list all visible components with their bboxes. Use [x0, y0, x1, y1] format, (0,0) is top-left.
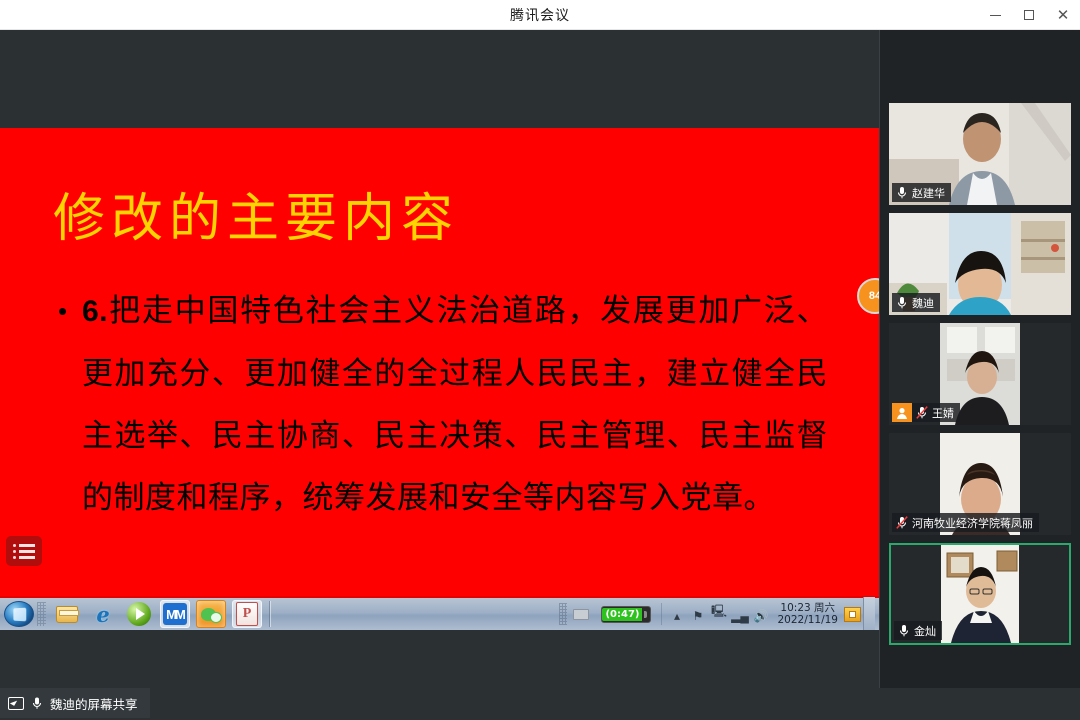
participant-badges: 金灿	[894, 621, 942, 640]
status-bar: 魏迪的屏幕共享	[0, 688, 1080, 720]
microphone-muted-icon	[916, 406, 928, 419]
participant-tile[interactable]: 王婧	[889, 323, 1071, 425]
participant-tile[interactable]: 魏迪	[889, 213, 1071, 315]
minimize-icon	[990, 15, 1001, 16]
signal-icon[interactable]: ▂▄	[731, 606, 748, 623]
presentation-slide[interactable]: 修改的主要内容 • 6.把走中国特色社会主义法治道路，发展更加广泛、更加充分、更…	[0, 128, 879, 596]
microphone-icon	[896, 296, 908, 309]
participant-name-chip: 王婧	[912, 403, 960, 422]
timer-indicator[interactable]: (0:47)	[601, 606, 651, 623]
microphone-icon	[898, 624, 910, 637]
participant-name-chip: 河南牧业经济学院蒋凤丽	[892, 513, 1039, 532]
microphone-muted-icon	[896, 516, 908, 529]
tray-separator	[661, 603, 662, 625]
participant-name: 河南牧业经济学院蒋凤丽	[912, 515, 1033, 531]
maximize-button[interactable]	[1012, 0, 1046, 30]
participant-name-chip: 赵建华	[892, 183, 951, 202]
participant-name-chip: 金灿	[894, 621, 942, 640]
participant-tile-active[interactable]: 金灿	[889, 543, 1071, 645]
close-button[interactable]: ✕	[1046, 0, 1080, 30]
blue-app-icon[interactable]: MM	[160, 600, 190, 628]
slide-item-number: 6.	[82, 295, 108, 328]
floating-count-badge[interactable]: 84	[857, 278, 879, 314]
participant-panel: 赵建华	[879, 30, 1080, 688]
tray-extra-icon[interactable]	[844, 607, 861, 622]
screen-share-indicator[interactable]: 魏迪的屏幕共享	[0, 688, 150, 718]
explorer-icon[interactable]	[52, 600, 82, 628]
flag-icon[interactable]: ⚑	[689, 606, 706, 623]
network-icon[interactable]: 🖳	[710, 606, 727, 623]
microphone-icon	[31, 696, 43, 710]
screen-share-label: 魏迪的屏幕共享	[50, 694, 138, 713]
slide-body-sentence: 把走中国特色社会主义法治道路，发展更加广泛、更加充分、更加健全的全过程人民民主，…	[82, 293, 828, 516]
windows-taskbar[interactable]: e MM P (0:47) ▴ ⚑ 🖳 ▂▄ 🔊	[0, 596, 879, 630]
system-tray[interactable]: (0:47) ▴ ⚑ 🖳 ▂▄ 🔊 10:23 周六 2022/11/19	[559, 597, 879, 631]
chevron-up-icon[interactable]: ▴	[668, 606, 685, 623]
wechat-icon[interactable]	[196, 600, 226, 628]
bullet-icon: •	[58, 280, 82, 342]
taskbar-grip	[37, 602, 46, 626]
clock-time: 10:23 周六	[777, 602, 838, 614]
powerpoint-icon[interactable]: P	[232, 600, 262, 628]
presenter-menu-button[interactable]	[6, 536, 42, 566]
title-bar: 腾讯会议 ✕	[0, 0, 1080, 30]
taskbar-divider	[269, 601, 271, 627]
participant-tile[interactable]: 河南牧业经济学院蒋凤丽	[889, 433, 1071, 535]
participant-name: 魏迪	[912, 295, 934, 311]
participant-badges: 王婧	[892, 403, 960, 422]
participant-name: 王婧	[932, 405, 954, 421]
shared-screen-letterbox-bottom	[0, 630, 879, 688]
minimize-button[interactable]	[978, 0, 1012, 30]
slide-body-text: 6.把走中国特色社会主义法治道路，发展更加广泛、更加充分、更加健全的全过程人民民…	[82, 280, 828, 529]
participant-name-chip: 魏迪	[892, 293, 940, 312]
show-desktop-button[interactable]	[863, 597, 875, 631]
taskbar-clock[interactable]: 10:23 周六 2022/11/19	[777, 602, 838, 626]
internet-explorer-icon[interactable]: e	[88, 600, 118, 628]
slide-body: • 6.把走中国特色社会主义法治道路，发展更加广泛、更加充分、更加健全的全过程人…	[58, 280, 828, 529]
shared-screen-area[interactable]: 修改的主要内容 • 6.把走中国特色社会主义法治道路，发展更加广泛、更加充分、更…	[0, 30, 879, 688]
participant-badges: 魏迪	[892, 293, 940, 312]
clock-date: 2022/11/19	[777, 614, 838, 626]
meeting-window: 腾讯会议 ✕ 修改的主要内容 • 6.把走中国特色社会主义法治道路，发展更加广泛…	[0, 0, 1080, 720]
close-icon: ✕	[1057, 8, 1070, 23]
participant-tile[interactable]: 赵建华	[889, 103, 1071, 205]
windows-start-orb[interactable]	[4, 601, 34, 627]
participant-badges: 河南牧业经济学院蒋凤丽	[892, 513, 1039, 532]
screen-share-icon	[8, 697, 24, 710]
participant-badges: 赵建华	[892, 183, 951, 202]
shared-screen-letterbox-top	[0, 30, 879, 128]
tray-grip-icon	[559, 603, 567, 625]
slide-title: 修改的主要内容	[53, 176, 459, 251]
participant-name: 赵建华	[912, 185, 945, 201]
participant-name: 金灿	[914, 623, 936, 639]
list-menu-icon	[13, 544, 35, 559]
microphone-icon	[896, 186, 908, 199]
mail-icon[interactable]	[573, 609, 589, 620]
volume-icon[interactable]: 🔊	[752, 606, 769, 623]
maximize-icon	[1024, 10, 1034, 20]
window-title: 腾讯会议	[510, 5, 570, 25]
media-player-icon[interactable]	[124, 600, 154, 628]
battery-cap-icon	[644, 611, 647, 618]
timer-value: (0:47)	[602, 608, 642, 621]
host-badge-icon	[892, 403, 912, 422]
window-controls: ✕	[978, 0, 1080, 30]
